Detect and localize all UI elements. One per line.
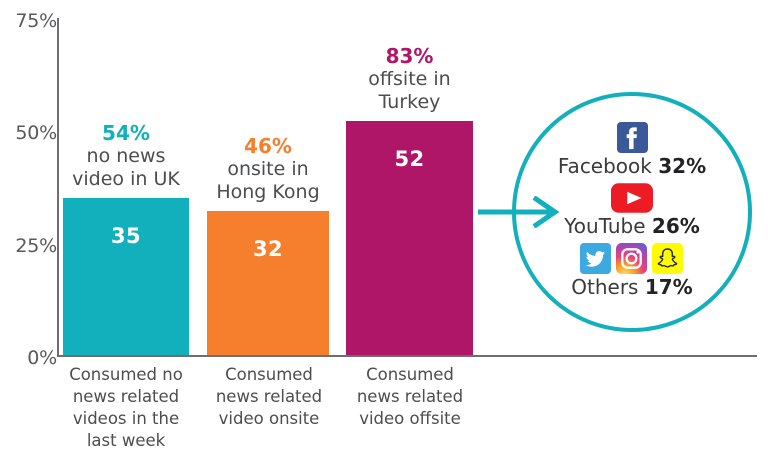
category-label-2: Consumed news related video offsite [337,364,483,430]
callout-percent-1: 46% [216,135,319,159]
bar-callout-2: 83% offsite in Turkey [368,45,450,113]
social-row-others: Others 17% [571,243,692,303]
youtube-icon-row [611,183,653,213]
category-label-0-line4: last week [53,430,199,452]
others-label: Others 17% [571,275,692,299]
category-label-1-line1: Consumed [196,364,342,386]
category-label-2-line2: news related [337,386,483,408]
youtube-label: YouTube 26% [564,214,700,238]
youtube-value: 26% [652,214,700,238]
bar-group-consumed-offsite[interactable]: 83% offsite in Turkey 52 [346,121,473,355]
category-label-1-line2: news related [196,386,342,408]
y-tick-25: 25% [5,235,57,257]
category-label-0: Consumed no news related videos in the l… [53,364,199,452]
category-label-1-line3: video onsite [196,408,342,430]
twitter-icon [580,243,611,274]
category-label-0-line1: Consumed no [53,364,199,386]
bar-group-consumed-onsite[interactable]: 46% onsite in Hong Kong 32 [207,211,329,355]
bar-callout-0: 54% no news video in UK [72,122,180,190]
y-tick-75: 75% [5,10,57,32]
callout-percent-2: 83% [368,45,450,69]
y-tick-0: 0% [5,347,57,369]
callout-line1-2: offsite in [368,68,450,90]
social-row-youtube: YouTube 26% [564,183,700,242]
bar-chart: 75% 50% 25% 0% 54% no news video in UK 3… [0,0,768,465]
bar-value-1: 32 [207,237,329,261]
facebook-icon-row [617,122,648,153]
others-name: Others [571,275,638,299]
y-axis-line [57,18,59,356]
category-label-2-line3: video offsite [337,408,483,430]
social-breakdown-circle: Facebook 32% YouTube 26% [512,92,752,332]
facebook-name: Facebook [558,154,652,178]
youtube-name: YouTube [564,214,645,238]
bar-callout-1: 46% onsite in Hong Kong [216,135,319,203]
social-row-facebook: Facebook 32% [558,122,706,182]
y-tick-50: 50% [5,122,57,144]
callout-percent-0: 54% [72,122,180,146]
facebook-icon [617,122,648,153]
category-label-1: Consumed news related video onsite [196,364,342,430]
category-label-0-line2: news related [53,386,199,408]
others-icon-row [580,243,683,274]
others-value: 17% [645,275,693,299]
callout-line1-0: no news [72,145,180,167]
facebook-label: Facebook 32% [558,154,706,178]
bar-group-consumed-no-news[interactable]: 54% no news video in UK 35 [63,198,189,355]
category-label-0-line3: videos in the [53,408,199,430]
callout-line2-0: video in UK [72,168,180,190]
category-label-2-line1: Consumed [337,364,483,386]
snapchat-icon [652,243,683,274]
bar-value-0: 35 [63,224,189,248]
youtube-icon [611,183,653,213]
instagram-icon [616,243,647,274]
bar-rect-0[interactable] [63,198,189,355]
callout-line2-2: Turkey [368,91,450,113]
facebook-value: 32% [658,154,706,178]
bar-value-2: 52 [346,147,473,171]
callout-line1-1: onsite in [216,158,319,180]
bar-rect-1[interactable] [207,211,329,355]
callout-line2-1: Hong Kong [216,181,319,203]
x-axis-line [57,355,757,357]
